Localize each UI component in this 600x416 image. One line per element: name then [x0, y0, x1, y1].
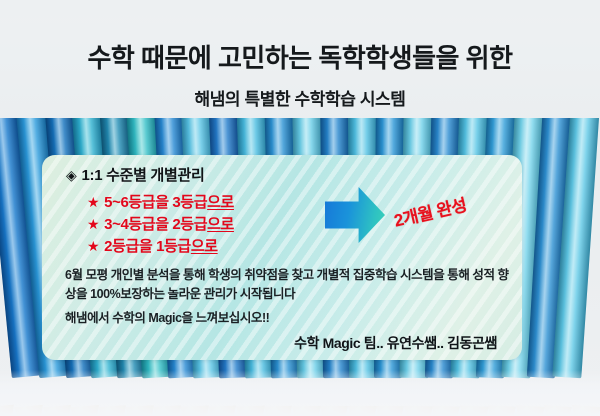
grade-line-1-underlined: 으로 [207, 194, 234, 211]
poster-canvas: 수학 때문에 고민하는 독학학생들을 위한 해냄의 특별한 수학학습 시스템 ◈… [0, 0, 600, 416]
star-icon: ★ [87, 238, 99, 254]
promo-text: 2개월 완성 [391, 191, 468, 232]
grade-line-2: ★3~4등급을 2등급으로 [87, 213, 234, 234]
magic-line: 해냄에서 수학의 Magic을 느껴보십시오!! [65, 307, 269, 326]
panel-heading-label: 1:1 수준별 개별관리 [81, 167, 204, 184]
diamond-bullet-icon: ◈ [66, 167, 76, 183]
content-panel: ◈1:1 수준별 개별관리 ★5~6등급을 3등급으로 ★3~4등급을 2등급으… [42, 155, 522, 360]
star-icon: ★ [87, 194, 99, 210]
floor-gradient-fade [0, 370, 600, 416]
star-icon: ★ [87, 216, 99, 232]
grade-line-3-underlined: 으로 [191, 238, 218, 255]
sub-title: 해냄의 특별한 수학학습 시스템 [0, 85, 600, 110]
right-arrow-icon [325, 187, 385, 243]
main-title: 수학 때문에 고민하는 독학학생들을 위한 [0, 44, 600, 74]
grade-line-3: ★2등급을 1등급으로 [87, 235, 218, 256]
grade-line-1-plain: 5~6등급을 3등급 [104, 194, 207, 211]
grade-line-2-underlined: 으로 [207, 216, 234, 233]
top-gradient-fade [0, 0, 600, 46]
body-paragraph: 6월 모평 개인별 분석을 통해 학생의 취약점을 찾고 개별적 집중학습 시스… [65, 266, 517, 305]
content-panel-inner: ◈1:1 수준별 개별관리 ★5~6등급을 3등급으로 ★3~4등급을 2등급으… [42, 155, 522, 360]
title-block: 수학 때문에 고민하는 독학학생들을 위한 해냄의 특별한 수학학습 시스템 [0, 44, 600, 110]
panel-heading: ◈1:1 수준별 개별관리 [66, 164, 204, 185]
grade-line-3-plain: 2등급을 1등급 [104, 238, 191, 255]
grade-line-1: ★5~6등급을 3등급으로 [87, 191, 234, 212]
grade-line-2-plain: 3~4등급을 2등급 [104, 216, 207, 233]
signature-line: 수학 Magic 팀.. 유연수쌤.. 김동곤쌤 [294, 333, 497, 353]
